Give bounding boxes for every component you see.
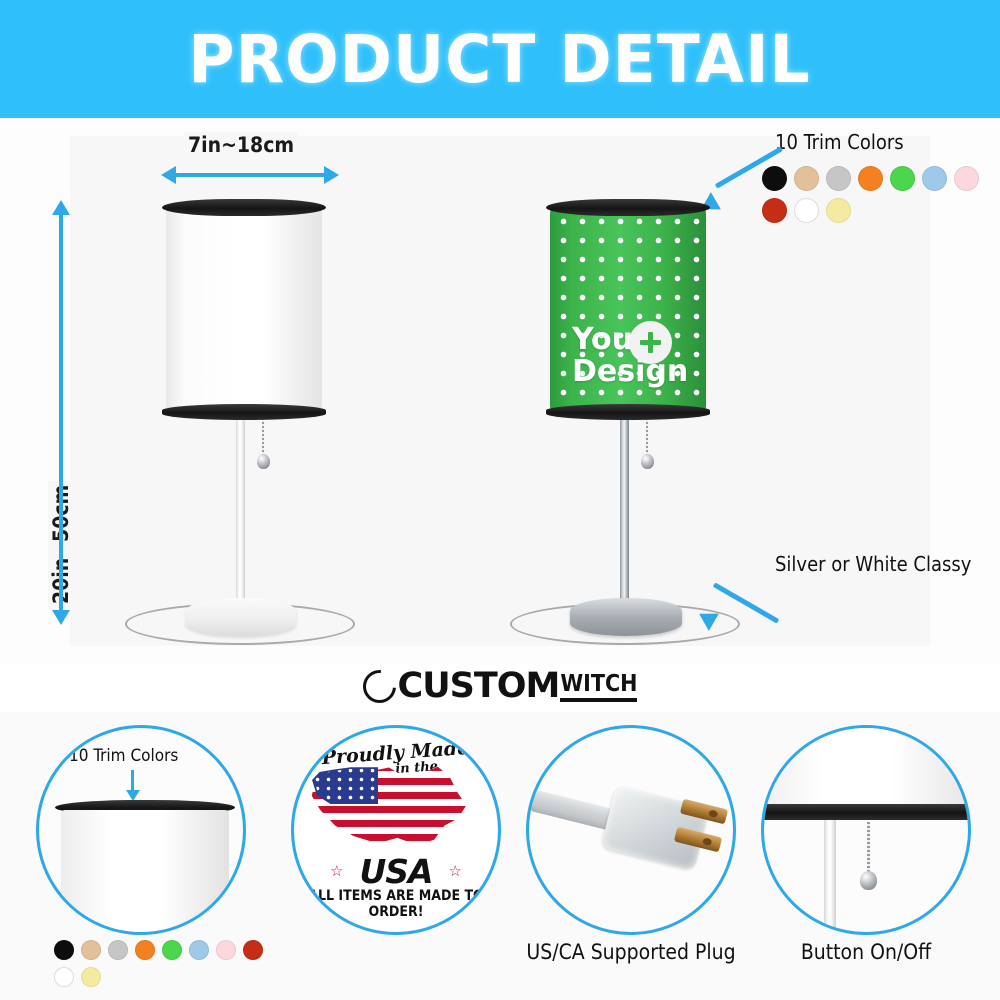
lamp-shade-green: Your Design xyxy=(550,206,706,414)
usa-tagline: ALL ITEMS ARE MADE TO ORDER! xyxy=(294,888,498,920)
brand-logo: CUSTOM WITCH xyxy=(0,666,1000,706)
swatch-black[interactable] xyxy=(762,166,787,191)
pull-chain-ball-silver xyxy=(641,454,654,469)
usa-star-left-icon: ☆ xyxy=(330,862,343,880)
lamp-pole-silver xyxy=(620,408,629,613)
swatch-yellow[interactable] xyxy=(826,198,851,223)
lamp-pole-white xyxy=(236,408,245,613)
feature-circle-made-in-usa: Proudly Made in the USA ☆ ☆ ALL ITEMS AR… xyxy=(291,725,501,935)
switch-shade-body xyxy=(761,725,971,808)
feature-circle-trim-colors: 10 Trim Colors xyxy=(36,725,246,935)
feature-row: 10 Trim Colors Proudly Made in the xyxy=(0,712,1000,1000)
product-detail-page: PRODUCT DETAIL 7in~18cm 20in~50cm xyxy=(0,0,1000,1000)
trim-colors-swatch-row-top xyxy=(762,166,1000,230)
switch-lamp-pole xyxy=(824,820,836,935)
swatch-black-2[interactable] xyxy=(54,940,74,960)
swatch-tan[interactable] xyxy=(794,166,819,191)
shade-trim-bottom-green xyxy=(546,404,710,420)
logo-main-text: CUSTOM xyxy=(398,666,560,706)
lamp-base-silver xyxy=(570,598,682,636)
feature-label-plug: US/CA Supported Plug xyxy=(506,940,756,964)
shade-trim-top-green xyxy=(546,199,710,216)
feature-label-switch: Button On/Off xyxy=(746,940,986,964)
shade-trim-top-white xyxy=(162,199,326,216)
logo-sub-text: WITCH xyxy=(560,671,637,702)
logo-c-icon xyxy=(356,663,402,709)
trim-colors-swatch-row-bottom xyxy=(54,940,294,994)
swatch-tan-2[interactable] xyxy=(81,940,101,960)
swatch-white-2[interactable] xyxy=(54,967,74,987)
swatch-green-2[interactable] xyxy=(162,940,182,960)
trim-colors-circle-arrow-shaft xyxy=(131,770,134,792)
feature-circle-plug xyxy=(526,725,736,935)
usa-word: USA xyxy=(294,852,498,891)
plus-icon[interactable] xyxy=(629,321,672,364)
your-design-text: Your Design xyxy=(550,324,706,389)
swatch-red-2[interactable] xyxy=(243,940,263,960)
pull-chain-silver xyxy=(646,418,648,456)
swatch-gray-2[interactable] xyxy=(108,940,128,960)
swatch-orange-2[interactable] xyxy=(135,940,155,960)
page-header-banner: PRODUCT DETAIL xyxy=(0,0,1000,118)
width-measure-label: 7in~18cm xyxy=(184,132,298,158)
swatch-red[interactable] xyxy=(762,198,787,223)
page-title: PRODUCT DETAIL xyxy=(189,21,811,98)
swatch-pink-2[interactable] xyxy=(216,940,236,960)
product-stage: 7in~18cm 20in~50cm xyxy=(0,118,1000,663)
usa-star-right-icon: ☆ xyxy=(449,862,462,880)
mini-shade-body xyxy=(61,810,229,935)
swatch-green[interactable] xyxy=(890,166,915,191)
base-finish-callout-arrow xyxy=(700,568,790,613)
lamp-shade-white xyxy=(166,206,322,414)
switch-pull-chain-ball[interactable] xyxy=(860,871,877,890)
swatch-orange[interactable] xyxy=(858,166,883,191)
swatch-light-blue[interactable] xyxy=(922,166,947,191)
swatch-gray[interactable] xyxy=(826,166,851,191)
feature-circle-switch xyxy=(761,725,971,935)
trim-colors-callout-label: 10 Trim Colors xyxy=(775,130,904,154)
swatch-yellow-2[interactable] xyxy=(81,967,101,987)
base-finish-callout-label: Silver or White Classy xyxy=(775,552,971,576)
plug-body xyxy=(601,785,710,870)
pull-chain-ball-white xyxy=(257,454,270,469)
lamp-base-white xyxy=(186,598,296,636)
pull-chain-white xyxy=(262,418,264,456)
shade-trim-bottom-white xyxy=(162,404,326,420)
trim-colors-circle-label: 10 Trim Colors xyxy=(69,746,178,766)
swatch-white[interactable] xyxy=(794,198,819,223)
swatch-light-blue-2[interactable] xyxy=(189,940,209,960)
switch-shade-trim xyxy=(761,804,971,820)
swatch-pink[interactable] xyxy=(954,166,979,191)
switch-pull-chain[interactable] xyxy=(867,822,870,874)
